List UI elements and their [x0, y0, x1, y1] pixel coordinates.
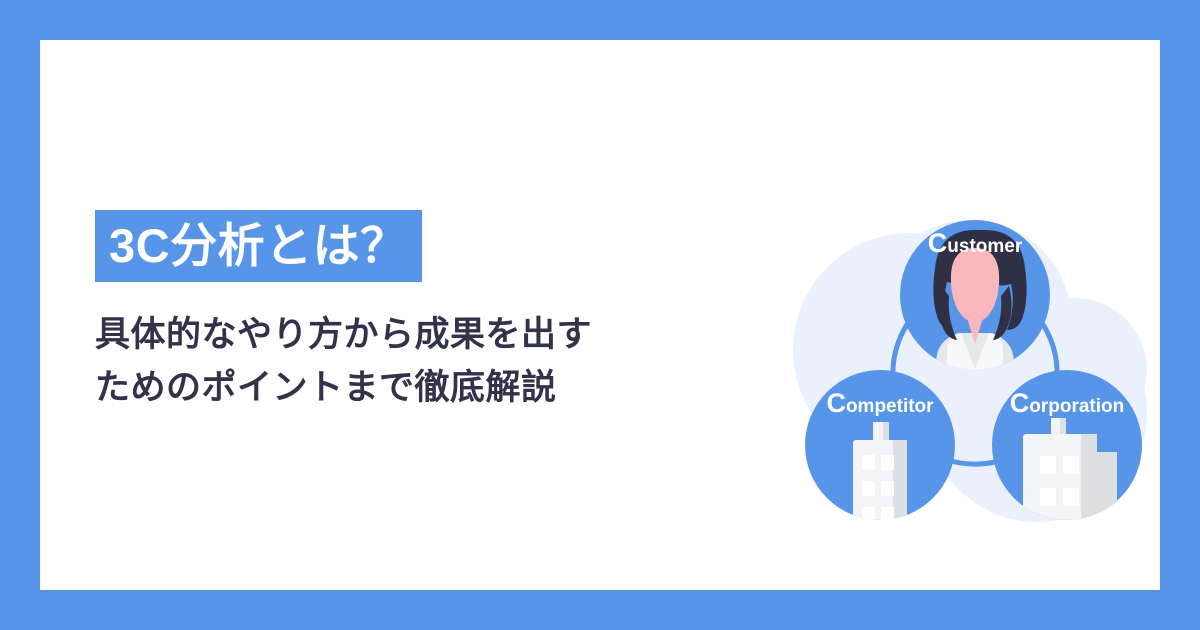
- page-subtitle: 具体的なやり方から成果を出す ためのポイントまで徹底解説: [95, 308, 715, 414]
- competitor-label-initial: C: [826, 388, 846, 418]
- customer-label-initial: C: [928, 228, 948, 258]
- three-c-diagram: Customer: [775, 190, 1175, 540]
- subtitle-line-2: ためのポイントまで徹底解説: [95, 361, 715, 414]
- subtitle-line-1: 具体的なやり方から成果を出す: [95, 308, 715, 361]
- corporation-label-initial: C: [1010, 388, 1030, 418]
- page-title: 3C分析とは？: [95, 210, 422, 282]
- node-competitor[interactable]: Competitor: [805, 370, 955, 530]
- customer-label-rest: ustomer: [947, 236, 1023, 257]
- hero-text-column: 3C分析とは？ 具体的なやり方から成果を出す ためのポイントまで徹底解説: [95, 210, 715, 414]
- corporation-label-rest: orporation: [1029, 396, 1124, 417]
- competitor-label-rest: ompetitor: [846, 396, 934, 417]
- page-frame: 3C分析とは？ 具体的なやり方から成果を出す ためのポイントまで徹底解説: [0, 0, 1200, 630]
- content-card: 3C分析とは？ 具体的なやり方から成果を出す ためのポイントまで徹底解説: [40, 40, 1160, 590]
